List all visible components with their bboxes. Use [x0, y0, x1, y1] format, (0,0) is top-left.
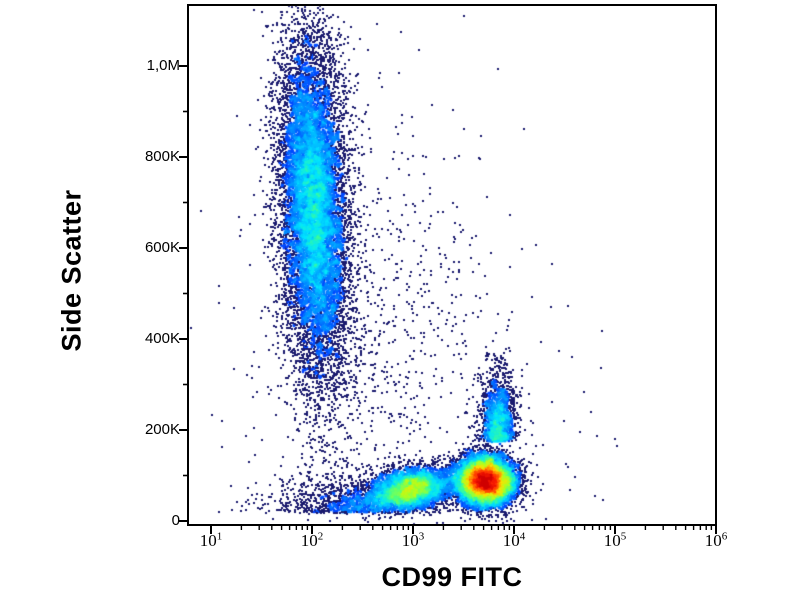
x-tick-exponent: 6 — [722, 530, 728, 542]
y-tick-label: 200K — [80, 421, 180, 438]
x-tick-exponent: 5 — [621, 530, 627, 542]
y-tick-label: 400K — [80, 330, 180, 347]
x-tick-exponent: 4 — [520, 530, 526, 542]
y-axis-tick-labels: 0200K400K600K800K1,0M — [76, 0, 180, 600]
x-tick-mantissa: 10 — [705, 531, 722, 550]
x-axis-title: CD99 FITC — [188, 562, 716, 593]
x-tick-label: 101 — [200, 531, 223, 551]
x-tick-label: 103 — [402, 531, 425, 551]
x-tick-exponent: 3 — [419, 530, 425, 542]
y-tick-label: 0 — [80, 512, 180, 529]
x-tick-label: 102 — [301, 531, 324, 551]
y-axis-title: Side Scatter — [57, 141, 88, 401]
flow-cytometry-figure: 0200K400K600K800K1,0M 101102103104105106… — [0, 0, 800, 600]
x-tick-mantissa: 10 — [301, 531, 318, 550]
x-tick-mantissa: 10 — [200, 531, 217, 550]
x-tick-label: 105 — [604, 531, 627, 551]
x-tick-label: 106 — [705, 531, 728, 551]
y-tick-label: 600K — [80, 239, 180, 256]
x-axis-tick-labels: 101102103104105106 — [0, 531, 800, 565]
x-tick-exponent: 2 — [318, 530, 324, 542]
x-tick-mantissa: 10 — [604, 531, 621, 550]
y-tick-label: 800K — [80, 148, 180, 165]
x-tick-exponent: 1 — [217, 530, 223, 542]
y-tick-label: 1,0M — [80, 57, 180, 74]
x-tick-mantissa: 10 — [503, 531, 520, 550]
x-tick-mantissa: 10 — [402, 531, 419, 550]
x-tick-label: 104 — [503, 531, 526, 551]
